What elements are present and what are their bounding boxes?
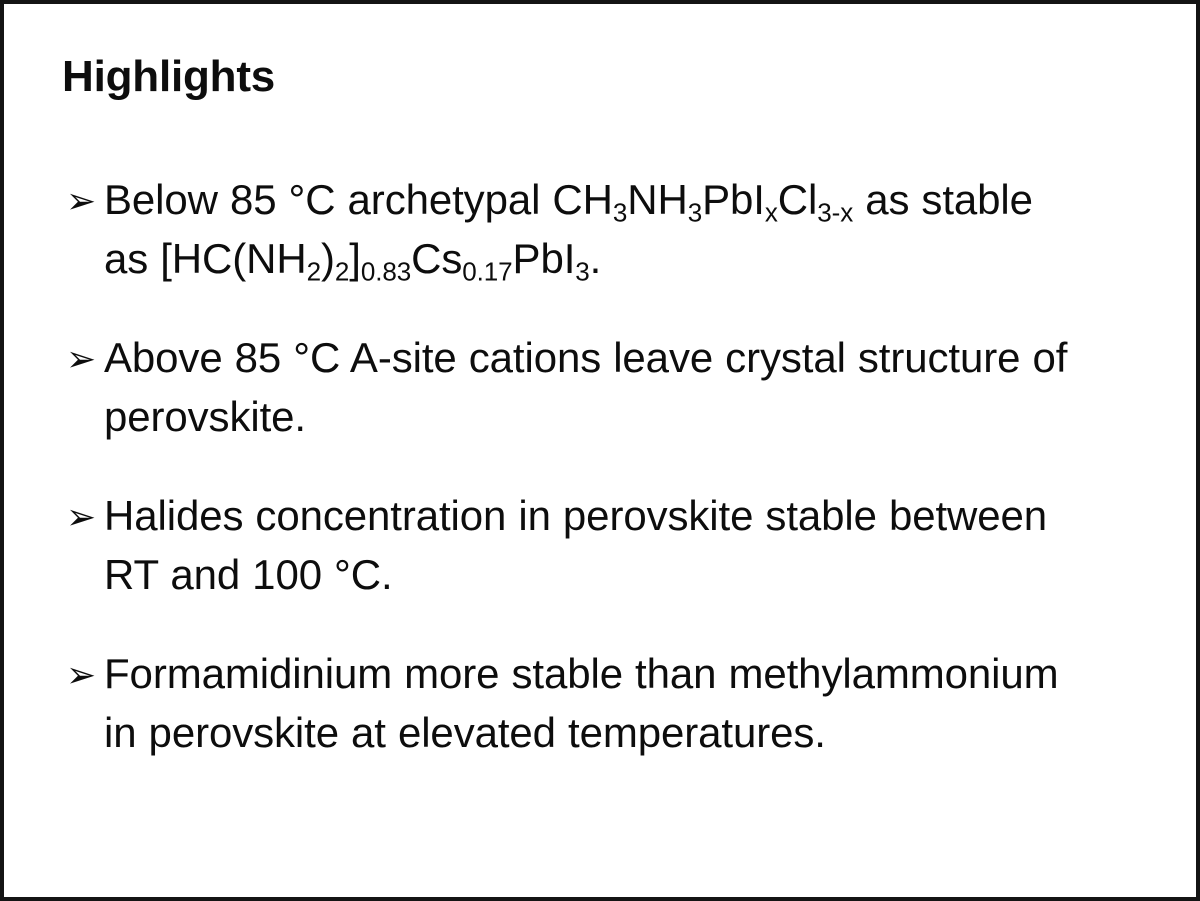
list-item-text: Halides concentration in perovskite stab… — [104, 486, 1076, 604]
list-item: ➢ Halides concentration in perovskite st… — [66, 486, 1076, 604]
list-item-text: Above 85 °C A-site cations leave crystal… — [104, 328, 1076, 446]
slide-canvas: Highlights ➢ Below 85 °C archetypal CH3N… — [0, 0, 1200, 901]
list-item-text: Below 85 °C archetypal CH3NH3PbIxCl3-x a… — [104, 170, 1076, 288]
page-title: Highlights — [62, 52, 275, 103]
bullet-1-rich-text: Below 85 °C archetypal CH3NH3PbIxCl3-x a… — [104, 176, 1033, 282]
highlights-bullet-list: ➢ Below 85 °C archetypal CH3NH3PbIxCl3-x… — [66, 170, 1076, 762]
arrowhead-bullet-icon: ➢ — [66, 329, 104, 388]
list-item: ➢ Formamidinium more stable than methyla… — [66, 644, 1076, 762]
arrowhead-bullet-icon: ➢ — [66, 487, 104, 546]
list-item: ➢ Above 85 °C A-site cations leave cryst… — [66, 328, 1076, 446]
arrowhead-bullet-icon: ➢ — [66, 645, 104, 704]
arrowhead-bullet-icon: ➢ — [66, 171, 104, 230]
list-item-text: Formamidinium more stable than methylamm… — [104, 644, 1076, 762]
list-item: ➢ Below 85 °C archetypal CH3NH3PbIxCl3-x… — [66, 170, 1076, 288]
